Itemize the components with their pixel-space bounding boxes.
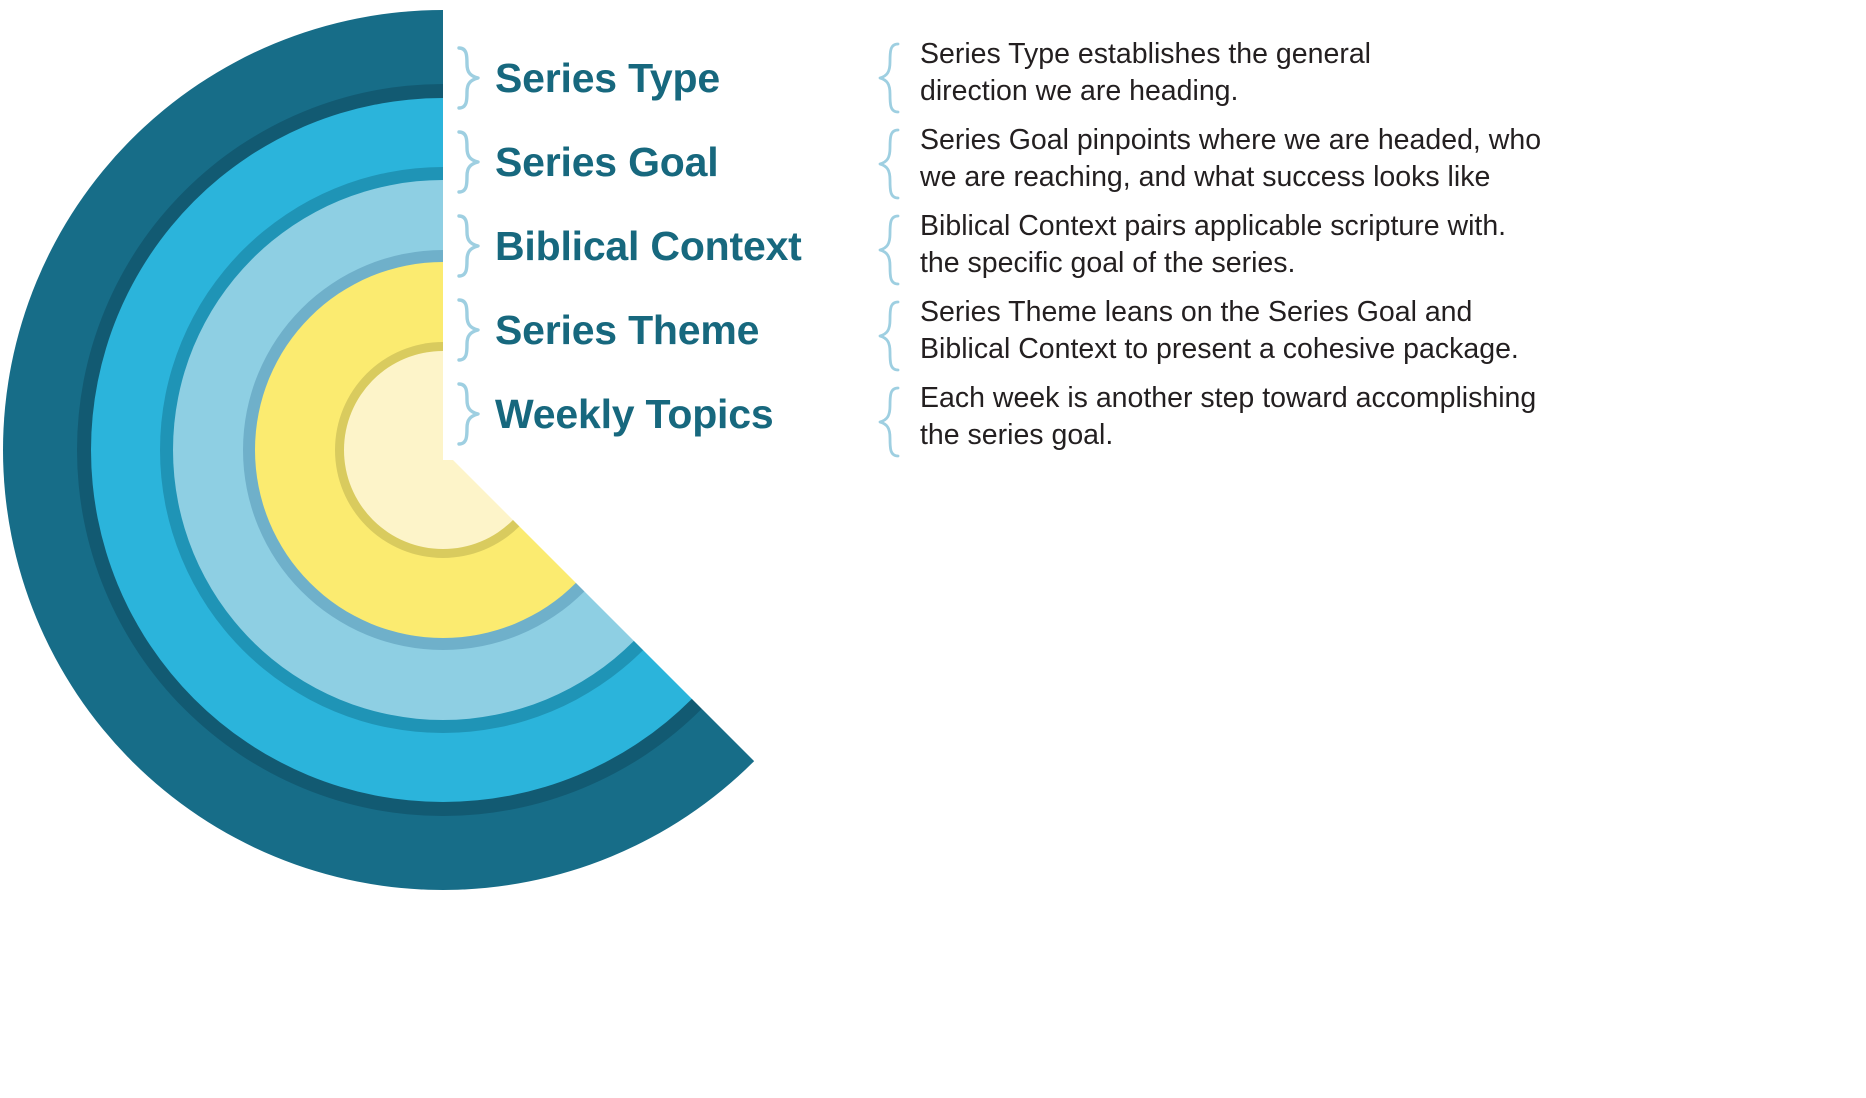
description-line: the series goal. [920,417,1536,454]
description-text: Each week is another step toward accompl… [920,380,1536,454]
right-curly-brace-icon [452,130,486,194]
diagram-canvas: Series Type Series Goal Biblical Context [0,0,1866,1098]
ring-label-text: Series Type [495,55,720,102]
description-weekly-topics: Each week is another step toward accompl… [878,380,1853,466]
description-line: Series Type establishes the general [920,36,1371,73]
description-text: Biblical Context pairs applicable script… [920,208,1506,282]
description-line: the specific goal of the series. [920,245,1506,282]
description-line: Each week is another step toward accompl… [920,380,1536,417]
description-list: Series Type establishes the general dire… [878,36,1853,466]
ring-label-weekly-topics[interactable]: Weekly Topics [452,372,882,456]
right-curly-brace-icon [452,214,486,278]
ring-label-text: Biblical Context [495,223,802,270]
ring-label-text: Series Theme [495,307,759,354]
left-curly-brace-icon [878,122,908,200]
description-line: Biblical Context to present a cohesive p… [920,331,1519,368]
ring-label-biblical-context[interactable]: Biblical Context [452,204,882,288]
left-curly-brace-icon [878,208,908,286]
right-curly-brace-icon [452,46,486,110]
right-curly-brace-icon [452,298,486,362]
left-curly-brace-icon [878,36,908,114]
ring-label-text: Series Goal [495,139,718,186]
ring-label-series-goal[interactable]: Series Goal [452,120,882,204]
description-series-theme: Series Theme leans on the Series Goal an… [878,294,1853,380]
description-line: we are reaching, and what success looks … [920,159,1541,196]
description-biblical-context: Biblical Context pairs applicable script… [878,208,1853,294]
left-curly-brace-icon [878,294,908,372]
description-series-goal: Series Goal pinpoints where we are heade… [878,122,1853,208]
description-text: Series Goal pinpoints where we are heade… [920,122,1541,196]
ring-label-list: Series Type Series Goal Biblical Context [452,36,882,456]
ring-label-series-type[interactable]: Series Type [452,36,882,120]
description-line: direction we are heading. [920,73,1371,110]
left-curly-brace-icon [878,380,908,458]
description-text: Series Type establishes the general dire… [920,36,1371,110]
ring-label-series-theme[interactable]: Series Theme [452,288,882,372]
ring-label-text: Weekly Topics [495,391,773,438]
description-line: Series Goal pinpoints where we are heade… [920,122,1541,159]
description-line: Biblical Context pairs applicable script… [920,208,1506,245]
description-line: Series Theme leans on the Series Goal an… [920,294,1519,331]
description-series-type: Series Type establishes the general dire… [878,36,1853,122]
description-text: Series Theme leans on the Series Goal an… [920,294,1519,368]
right-curly-brace-icon [452,382,486,446]
